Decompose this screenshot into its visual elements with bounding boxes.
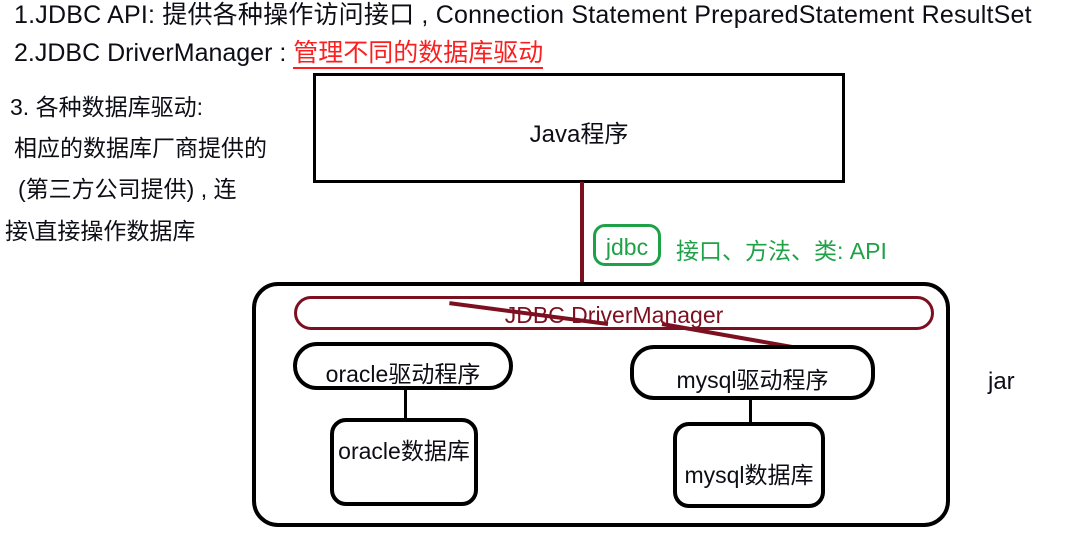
diagram-canvas: 1.JDBC API: 提供各种操作访问接口 , Connection Stat…	[0, 0, 1086, 549]
note-line-2-prefix: 2.JDBC DriverManager :	[14, 39, 293, 67]
mysql-database-label: mysql数据库	[677, 456, 821, 490]
note-line-drivermanager: 2.JDBC DriverManager : 管理不同的数据库驱动	[14, 40, 543, 68]
jar-label: jar	[988, 368, 1015, 396]
jdbc-tag-box: jdbc	[593, 224, 661, 266]
note-line-jdbc-api: 1.JDBC API: 提供各种操作访问接口 , Connection Stat…	[14, 2, 1032, 30]
drivermanager-label: JDBC DriverManager	[297, 302, 931, 329]
java-program-label: Java程序	[316, 114, 842, 149]
connector-oracle-driver-to-oracle-db	[404, 388, 407, 422]
oracle-driver-label: oracle驱动程序	[297, 355, 509, 389]
paragraph-line-4: 接\直接操作数据库	[5, 212, 195, 246]
paragraph-line-3: (第三方公司提供) , 连	[18, 170, 237, 204]
oracle-driver-box: oracle驱动程序	[293, 342, 513, 390]
mysql-driver-label: mysql驱动程序	[634, 361, 871, 395]
jdbc-tag-label: jdbc	[596, 234, 658, 261]
jdbc-api-annotation: 接口、方法、类: API	[676, 232, 887, 266]
note-line-1-text: 1.JDBC API: 提供各种操作访问接口 , Connection Stat…	[14, 1, 1032, 29]
mysql-driver-box: mysql驱动程序	[630, 345, 875, 400]
note-line-2-highlight: 管理不同的数据库驱动	[293, 39, 543, 69]
oracle-database-box: oracle数据库	[330, 418, 478, 506]
java-program-box: Java程序	[313, 73, 845, 183]
oracle-database-label: oracle数据库	[334, 432, 474, 466]
paragraph-line-2: 相应的数据库厂商提供的	[14, 129, 267, 163]
mysql-database-box: mysql数据库	[673, 422, 825, 508]
paragraph-line-1: 3. 各种数据库驱动:	[10, 88, 203, 122]
drivermanager-box: JDBC DriverManager	[294, 296, 934, 330]
